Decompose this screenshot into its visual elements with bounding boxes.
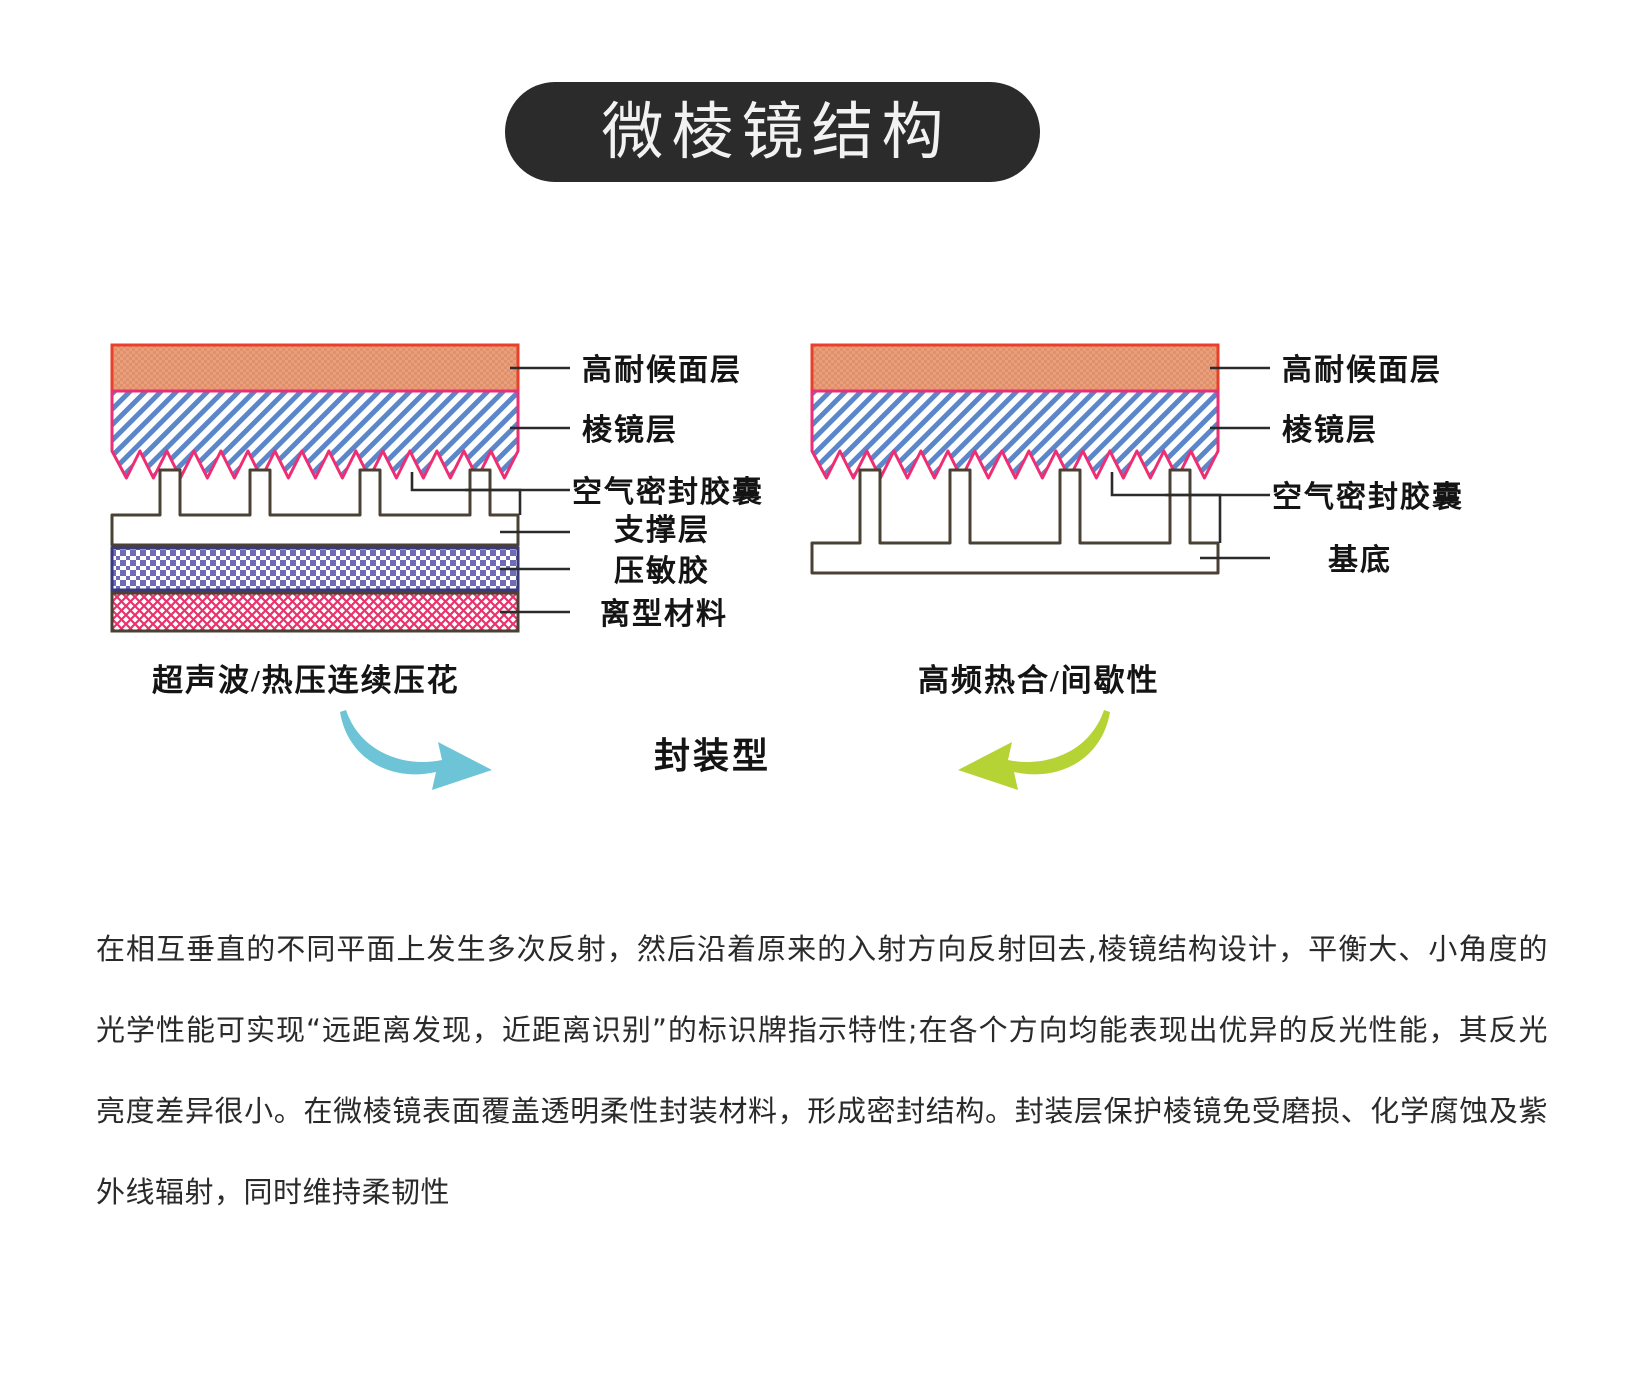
label-release-left: 离型材料 bbox=[600, 598, 728, 631]
layer-topcoat-right bbox=[812, 345, 1218, 391]
layer-prism-left bbox=[112, 391, 518, 478]
layer-release-left bbox=[112, 593, 518, 631]
label-airseal-left: 空气密封胶囊 bbox=[572, 475, 764, 509]
label-prism-left: 棱镜层 bbox=[582, 413, 678, 447]
label-topcoat-left: 高耐候面层 bbox=[582, 354, 742, 387]
page-title-pill: 微棱镜结构 bbox=[505, 82, 1040, 182]
diagram-left: 高耐候面层 棱镜层 空气密封胶囊 支撑层 压敏胶 离型材料 bbox=[112, 345, 764, 631]
layer-prism-right bbox=[812, 391, 1218, 478]
right-process-arrow-icon bbox=[958, 710, 1110, 790]
label-support-left: 支撑层 bbox=[614, 514, 710, 547]
label-substrate-right: 基底 bbox=[1328, 544, 1392, 577]
arrows-layer bbox=[0, 690, 1646, 810]
label-adhesive-left: 压敏胶 bbox=[614, 554, 710, 588]
label-topcoat-right: 高耐候面层 bbox=[1282, 354, 1442, 387]
layer-substrate-right bbox=[812, 470, 1218, 573]
center-type-label: 封装型 bbox=[654, 727, 771, 779]
body-paragraph: 在相互垂直的不同平面上发生多次反射，然后沿着原来的入射方向反射回去,棱镜结构设计… bbox=[96, 909, 1548, 1233]
layer-topcoat-left bbox=[112, 345, 518, 391]
layer-support-left bbox=[112, 470, 518, 545]
layer-adhesive-left bbox=[112, 548, 518, 590]
label-prism-right: 棱镜层 bbox=[1282, 413, 1378, 447]
diagram-right: 高耐候面层 棱镜层 空气密封胶囊 基底 bbox=[812, 345, 1464, 577]
page-title: 微棱镜结构 bbox=[593, 101, 951, 163]
label-airseal-right: 空气密封胶囊 bbox=[1272, 480, 1464, 514]
left-process-arrow-icon bbox=[340, 710, 492, 790]
